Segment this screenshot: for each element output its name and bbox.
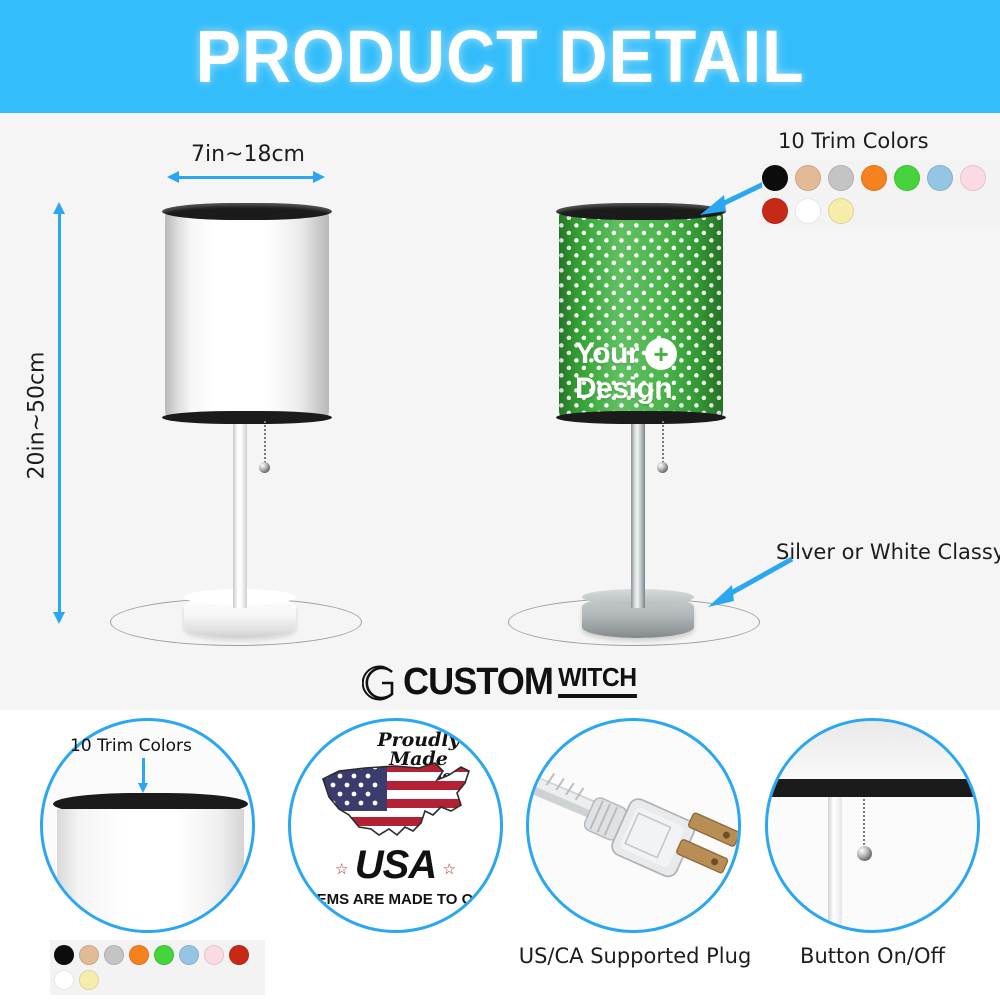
width-dimension-label: 7in~18cm <box>180 142 316 167</box>
trim-ring-sample <box>765 779 980 797</box>
brand-logo: CUSTOM WITCH <box>362 661 639 704</box>
base-finish-callout-label: Silver or White Classy <box>776 540 1000 564</box>
base-finish-callout-arrow <box>700 551 800 611</box>
pull-chain-ball <box>259 462 270 473</box>
trim-swatch-red[interactable] <box>762 198 788 224</box>
lamp-pole-white <box>233 418 247 608</box>
feature-trim-colors-label: 10 Trim Colors <box>70 736 192 756</box>
feature-circle: Proudly Made in the <box>288 718 503 933</box>
trim-swatch-tan[interactable] <box>79 945 99 965</box>
pull-chain <box>662 421 664 465</box>
usa-tagline: ALL ITEMS ARE MADE TO ORDER! <box>288 891 503 908</box>
feature-switch-label: Button On/Off <box>755 944 990 968</box>
feature-circle <box>765 718 980 933</box>
shade-trim-bottom <box>162 411 332 424</box>
shade-bottom-sample <box>765 721 980 781</box>
shade-trim-bottom <box>556 411 726 424</box>
feature-plug: US/CA Supported Plug <box>520 718 750 998</box>
shade-gloss <box>165 208 329 420</box>
trim-swatch-green[interactable] <box>154 945 174 965</box>
trim-swatch-gray[interactable] <box>104 945 124 965</box>
trim-colors-down-arrow <box>142 758 145 784</box>
usa-star-left-icon: ☆ <box>335 860 348 878</box>
shade-trim-top <box>162 203 332 220</box>
pull-chain <box>863 799 865 849</box>
trim-color-swatches-top <box>762 161 1000 228</box>
trim-swatch-red[interactable] <box>229 945 249 965</box>
trim-color-swatches-bottom <box>50 940 265 995</box>
trim-swatch-white[interactable] <box>54 970 74 990</box>
trim-swatch-orange[interactable] <box>861 165 887 191</box>
pull-chain-ball <box>657 462 668 473</box>
feature-circle <box>526 718 741 933</box>
usa-star-right-icon: ☆ <box>443 860 456 878</box>
height-dimension-label: 20in~50cm <box>25 351 50 481</box>
power-plug-icon <box>529 721 738 930</box>
trim-swatch-pink[interactable] <box>204 945 224 965</box>
product-detail-infographic: PRODUCT DETAIL 20in~50cm 7in~18cm <box>0 0 1000 1000</box>
height-dimension-arrow <box>58 213 61 613</box>
header-banner: PRODUCT DETAIL <box>0 0 1000 113</box>
trim-swatch-light-blue[interactable] <box>927 165 953 191</box>
width-dimension-arrow <box>178 176 314 179</box>
trim-swatch-gray[interactable] <box>828 165 854 191</box>
logo-c-mark-icon <box>362 663 402 703</box>
your-design-line-2: Design <box>575 374 672 404</box>
shade-surface <box>165 208 329 420</box>
usa-word: USA <box>355 843 436 888</box>
brand-logo-band: CUSTOM WITCH <box>0 655 1000 710</box>
pull-chain-ball <box>857 846 872 861</box>
feature-row: 10 Trim Colors Proudly Made in the <box>0 710 1000 1000</box>
brand-name-main: CUSTOM <box>403 661 553 704</box>
shade-surface: Your + Design <box>559 208 723 420</box>
your-design-line-1: Your <box>575 339 639 369</box>
feature-plug-label: US/CA Supported Plug <box>505 944 765 968</box>
shade-sample <box>57 809 244 933</box>
trim-swatch-white[interactable] <box>795 198 821 224</box>
pole-sample <box>828 797 842 933</box>
trim-swatch-yellow[interactable] <box>79 970 99 990</box>
trim-swatch-tan[interactable] <box>795 165 821 191</box>
trim-swatch-black[interactable] <box>762 165 788 191</box>
trim-swatch-orange[interactable] <box>129 945 149 965</box>
trim-swatch-light-blue[interactable] <box>179 945 199 965</box>
feature-switch: Button On/Off <box>765 718 980 998</box>
add-design-plus-icon: + <box>645 338 677 370</box>
trim-swatch-yellow[interactable] <box>828 198 854 224</box>
pull-chain <box>264 421 266 465</box>
lamp-shade-green: Your + Design <box>559 208 723 420</box>
trim-swatch-green[interactable] <box>894 165 920 191</box>
your-design-overlay: Your + Design <box>575 338 709 404</box>
page-title: PRODUCT DETAIL <box>195 14 804 99</box>
lamp-shade-white <box>165 208 329 420</box>
trim-swatch-pink[interactable] <box>960 165 986 191</box>
lamp-pole-silver <box>631 418 645 608</box>
feature-trim-colors: 10 Trim Colors <box>40 718 255 998</box>
trim-colors-callout-label: 10 Trim Colors <box>778 129 929 153</box>
main-stage: 20in~50cm 7in~18cm <box>0 113 1000 710</box>
trim-swatch-black[interactable] <box>54 945 74 965</box>
usa-badge: Proudly Made in the <box>291 721 500 930</box>
feature-made-in-usa: Proudly Made in the <box>288 718 503 998</box>
brand-name-sub: WITCH <box>558 662 637 698</box>
